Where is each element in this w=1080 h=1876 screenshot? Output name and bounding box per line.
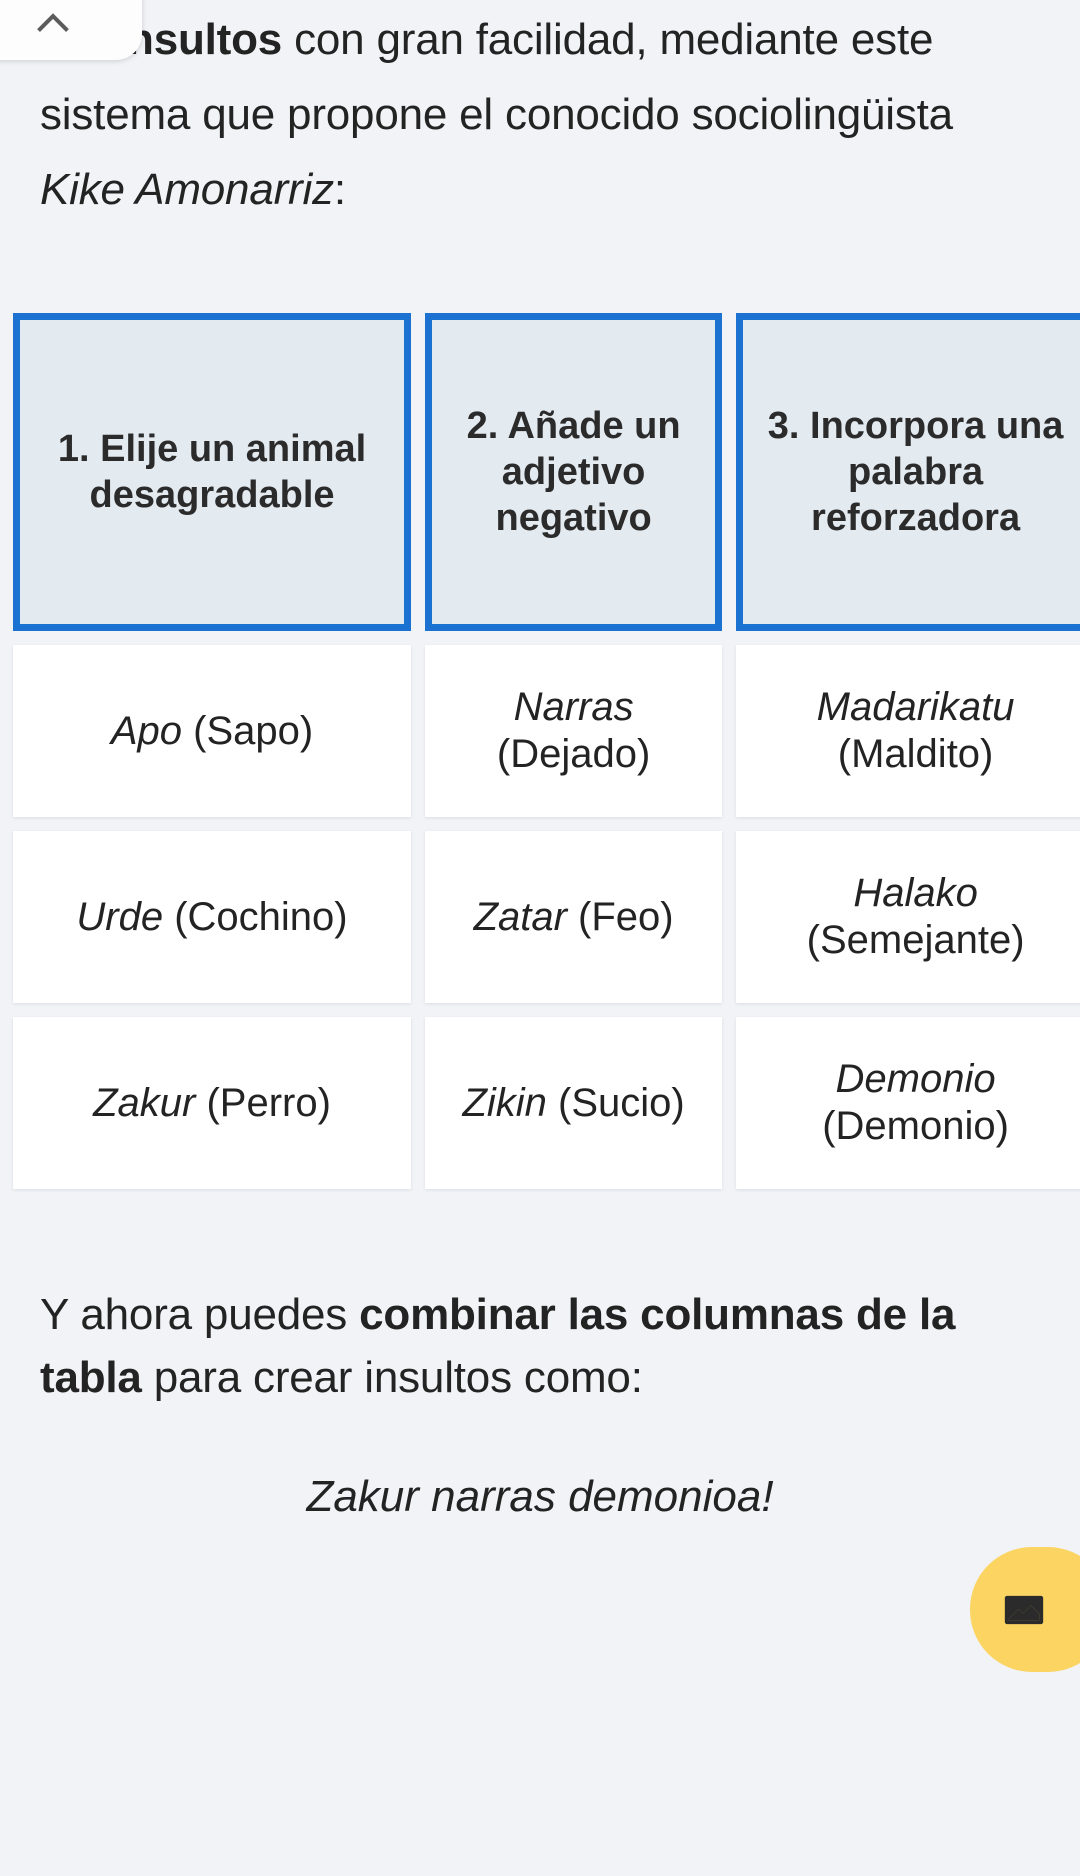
table-cell: Urde (Cochino): [13, 831, 411, 1003]
table-row: Zakur (Perro) Zikin (Sucio) Demonio (Dem…: [13, 1017, 1080, 1189]
insult-table-container: 1. Elije un animal desagradable 2. Añade…: [0, 313, 1080, 1203]
spanish-gloss: (Semejante): [807, 918, 1025, 962]
basque-term: Halako: [853, 871, 978, 915]
insult-table: 1. Elije un animal desagradable 2. Añade…: [0, 313, 1080, 1203]
basque-term: Zikin: [462, 1081, 546, 1125]
chevron-up-icon: [30, 0, 76, 46]
basque-term: Zatar: [474, 895, 567, 939]
image-fab-button[interactable]: [970, 1547, 1080, 1672]
article-page: ios insultos con gran facilidad, mediant…: [0, 0, 1080, 1876]
spanish-gloss: (Dejado): [497, 732, 650, 776]
table-header-cell-2: 2. Añade un adjetivo negativo: [425, 313, 722, 631]
table-row: Urde (Cochino) Zatar (Feo) Halako (Semej…: [13, 831, 1080, 1003]
spanish-gloss: (Perro): [195, 1081, 331, 1125]
table-header-cell-1: 1. Elije un animal desagradable: [13, 313, 411, 631]
table-cell: Zakur (Perro): [13, 1017, 411, 1189]
table-cell: Madarikatu (Maldito): [736, 645, 1080, 817]
scroll-to-top-button[interactable]: [0, 0, 142, 60]
basque-term: Apo: [111, 709, 182, 753]
spanish-gloss: (Cochino): [163, 895, 348, 939]
spanish-gloss: (Sucio): [547, 1081, 685, 1125]
spanish-gloss: (Sapo): [182, 709, 313, 753]
basque-term: Demonio: [836, 1057, 996, 1101]
basque-term: Madarikatu: [817, 685, 1015, 729]
table-cell: Zatar (Feo): [425, 831, 722, 1003]
outro-paragraph: Y ahora puedes combinar las columnas de …: [0, 1283, 1080, 1409]
table-cell: Halako (Semejante): [736, 831, 1080, 1003]
table-row: Apo (Sapo) Narras (Dejado) Madarikatu (M…: [13, 645, 1080, 817]
table-cell: Demonio (Demonio): [736, 1017, 1080, 1189]
intro-colon: :: [334, 165, 346, 214]
intro-author-name: Kike Amonarriz: [40, 165, 334, 214]
image-icon: [1001, 1587, 1047, 1633]
outro-tail: para crear insultos como:: [142, 1353, 643, 1402]
spanish-gloss: (Demonio): [822, 1104, 1009, 1148]
table-header-cell-3: 3. Incorpora una palabra reforzadora: [736, 313, 1080, 631]
table-cell: Apo (Sapo): [13, 645, 411, 817]
spanish-gloss: (Feo): [567, 895, 674, 939]
table-header-row: 1. Elije un animal desagradable 2. Añade…: [13, 313, 1080, 631]
outro-lead: Y ahora puedes: [40, 1290, 359, 1339]
table-cell: Narras (Dejado): [425, 645, 722, 817]
basque-term: Urde: [76, 895, 163, 939]
basque-term: Narras: [514, 685, 634, 729]
table-cell: Zikin (Sucio): [425, 1017, 722, 1189]
basque-term: Zakur: [93, 1081, 195, 1125]
example-insult: Zakur narras demonioa!: [0, 1467, 1080, 1527]
intro-paragraph: ios insultos con gran facilidad, mediant…: [0, 0, 1080, 227]
spanish-gloss: (Maldito): [838, 732, 994, 776]
